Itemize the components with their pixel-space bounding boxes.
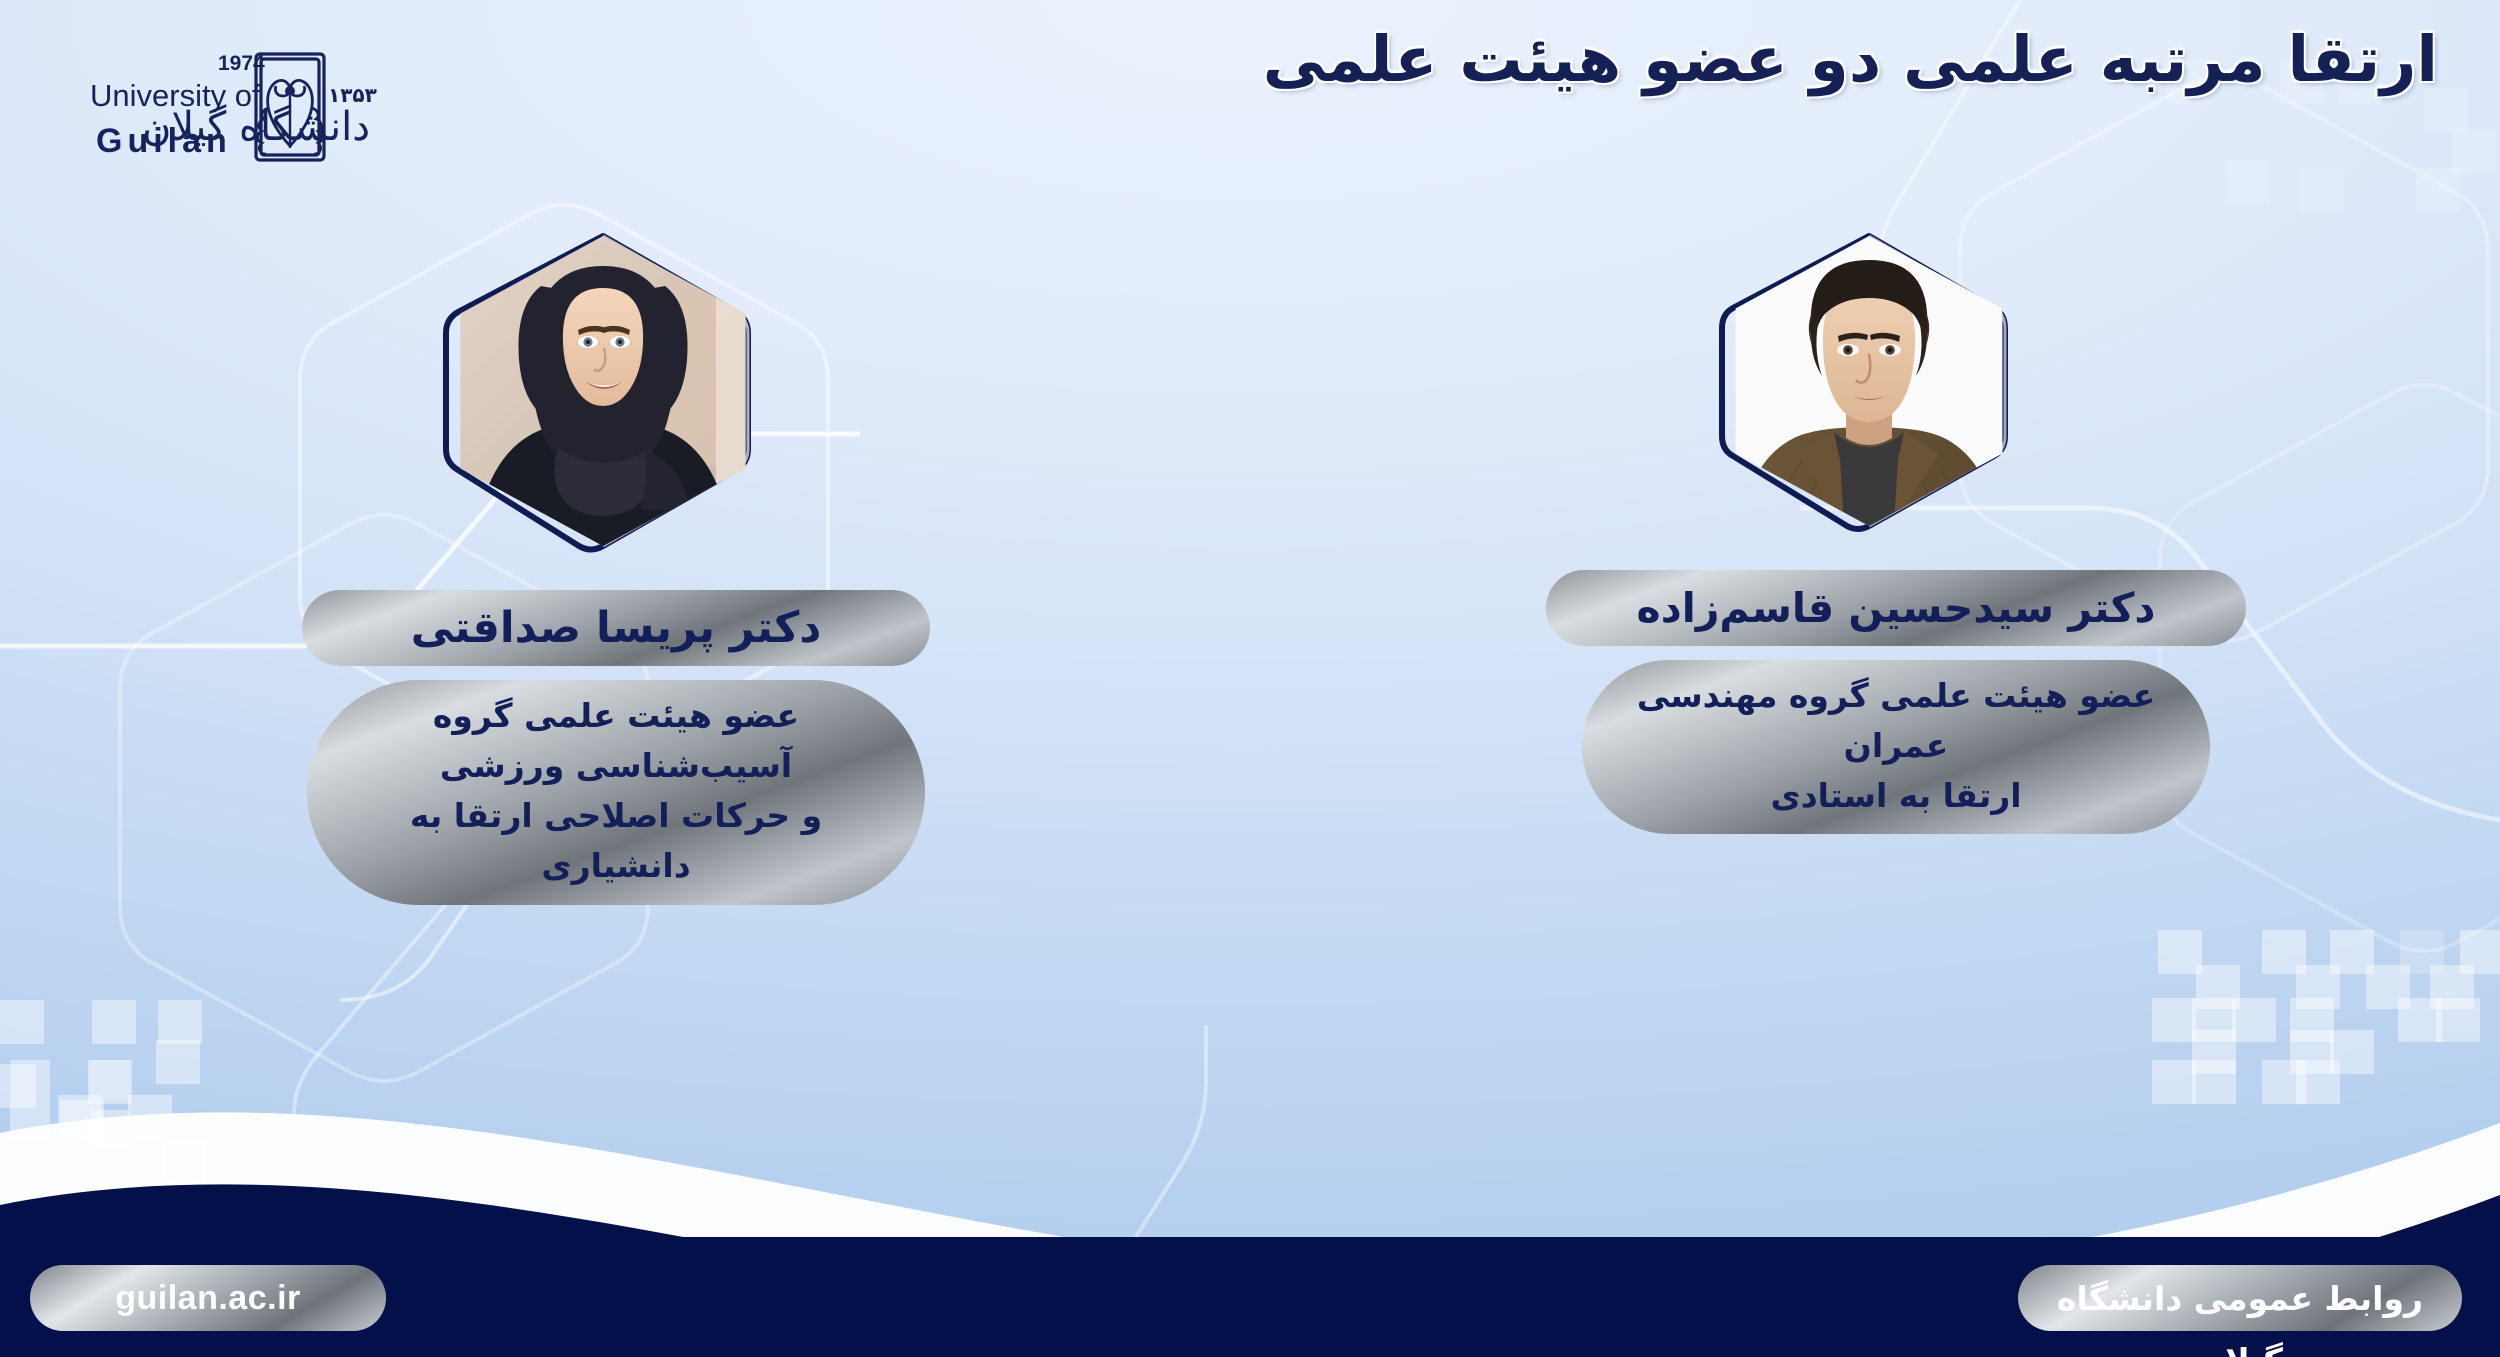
person-role-right: عضو هیئت علمی گروه مهندسی عمران ارتقا به…: [1582, 660, 2210, 834]
page-title: ارتقا مرتبه علمی دو عضو هیئت علمی: [1018, 18, 2438, 102]
person-name-right: دکتر سیدحسین قاسم‌زاده موسوی‌نژاد: [1546, 570, 2246, 646]
poster-canvas: 1974 University of Guilan ۱۳۵۳ دانشگاه گ…: [0, 0, 2500, 1357]
person-card-left: پرتره دکتر پریسا صداقتی: [236, 236, 996, 905]
portrait-hexagon-left: پرتره دکتر پریسا صداقتی: [448, 236, 758, 546]
person-card-right: پرتره دکتر سیدحسین قاسم‌زاده موسوی‌نژاد: [1512, 236, 2272, 834]
public-relations-badge: روابط عمومی دانشگاه گیلان: [2018, 1265, 2462, 1331]
website-badge[interactable]: guilan.ac.ir: [30, 1265, 386, 1331]
person-role-right-line2: ارتقا به استادی: [1611, 771, 2181, 821]
person-role-left-line1: عضو هیئت علمی گروه آسیب‌شناسی ورزشی: [336, 691, 896, 791]
person-role-left-line2: و حرکات اصلاحی ارتقا به دانشیاری: [336, 791, 896, 891]
person-role-right-line1: عضو هیئت علمی گروه مهندسی عمران: [1611, 671, 2181, 771]
person-name-left: دکتر پریسا صداقتی: [302, 590, 930, 666]
portrait-hexagon-right: پرتره دکتر سیدحسین قاسم‌زاده موسوی‌نژاد: [1724, 236, 2014, 526]
university-logo: 1974 University of Guilan ۱۳۵۳ دانشگاه گ…: [70, 36, 540, 166]
person-role-left: عضو هیئت علمی گروه آسیب‌شناسی ورزشی و حر…: [307, 680, 925, 905]
